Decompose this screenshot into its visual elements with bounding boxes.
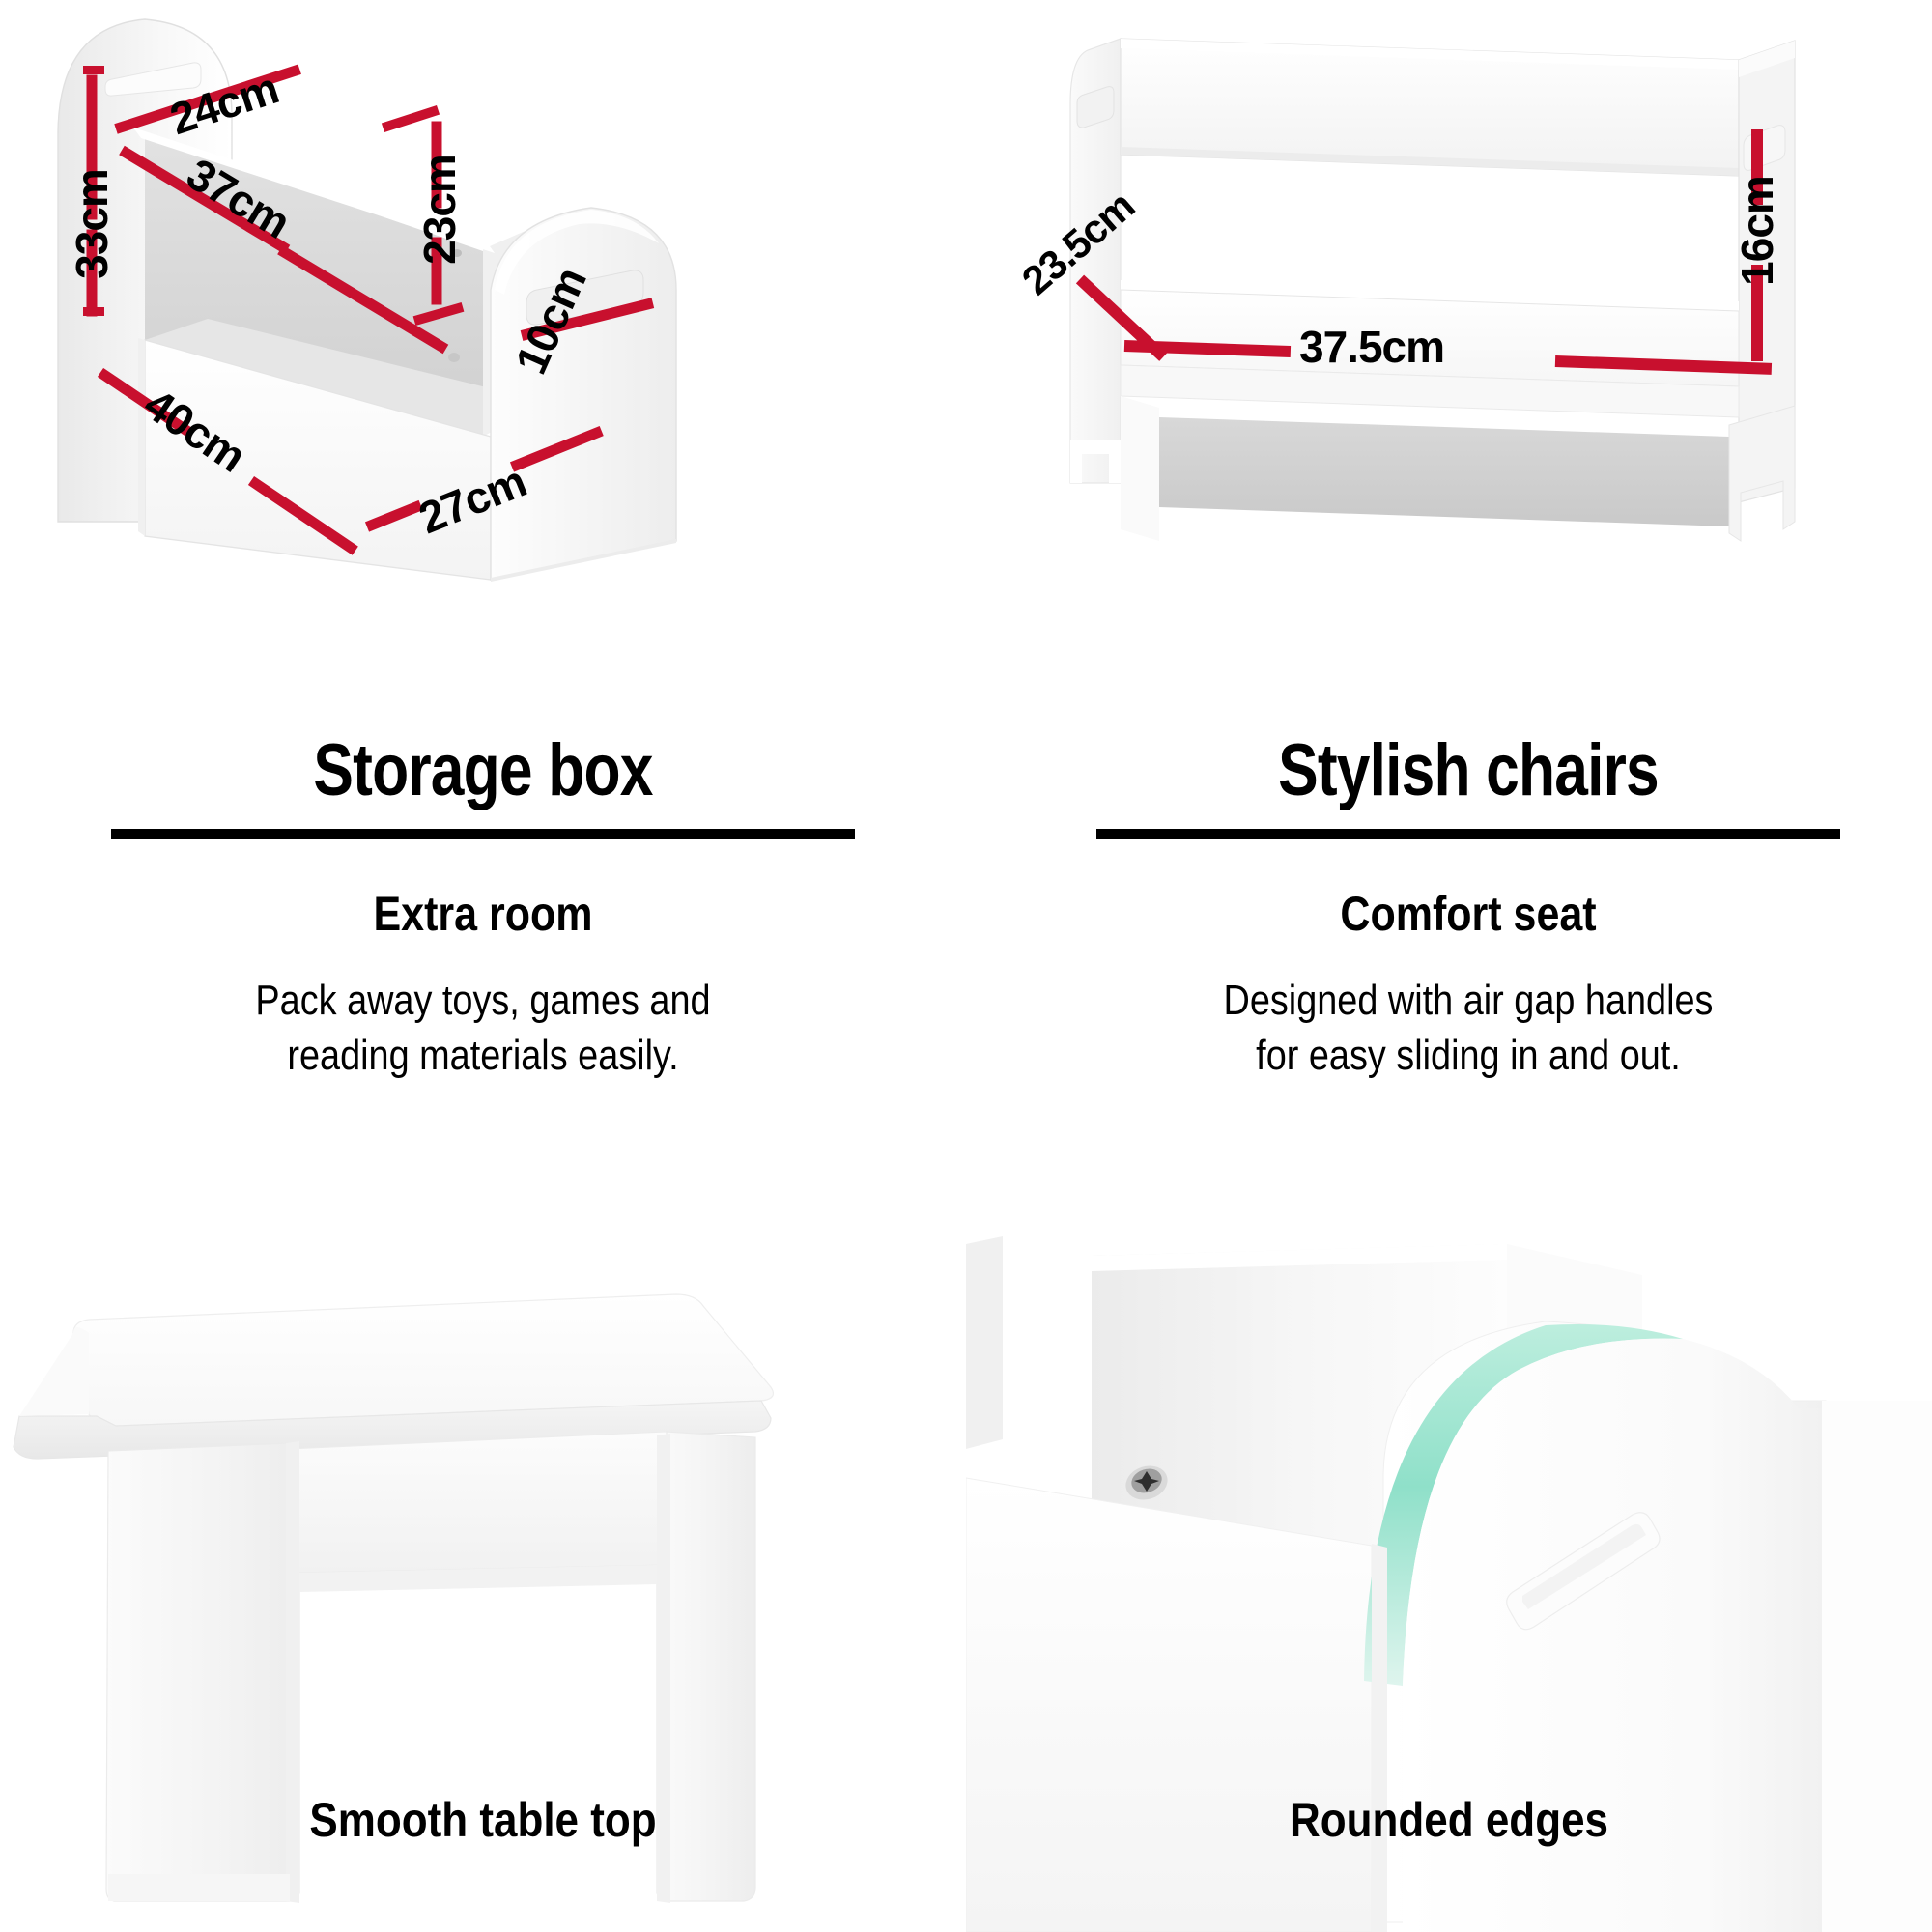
- chair-panel: 23.5cm 37.5cm 16cm: [966, 0, 1913, 599]
- feature-title-left: Storage box: [134, 734, 832, 808]
- table-caption: Smooth table top: [58, 1792, 908, 1848]
- dim-label-23cm: 23cm: [413, 155, 466, 265]
- dim-label-33cm: 33cm: [66, 169, 118, 279]
- feature-body-left: Pack away toys, games and reading materi…: [118, 973, 849, 1083]
- feature-divider-left: [111, 829, 855, 839]
- feature-subtitle-left: Extra room: [118, 890, 849, 938]
- feature-subtitle-right: Comfort seat: [1103, 890, 1834, 938]
- storage-box-panel: 33cm 24cm 37cm 23cm 10cm 40cm 27cm: [0, 0, 850, 599]
- feature-title-right: Stylish chairs: [1120, 734, 1817, 808]
- infographic-page: 33cm 24cm 37cm 23cm 10cm 40cm 27cm: [0, 0, 1932, 1932]
- feature-body-right: Designed with air gap handles for easy s…: [1103, 973, 1834, 1083]
- dim-tick-33cm-top: [83, 66, 104, 74]
- dim-label-37-5cm: 37.5cm: [1299, 321, 1444, 373]
- rounded-edge-caption: Rounded edges: [1024, 1792, 1874, 1848]
- feature-divider-right: [1096, 829, 1840, 839]
- dim-label-16cm: 16cm: [1731, 176, 1783, 286]
- feature-block-right: Stylish chairs Comfort seat Designed wit…: [1043, 734, 1893, 1083]
- feature-block-left: Storage box Extra room Pack away toys, g…: [58, 734, 908, 1083]
